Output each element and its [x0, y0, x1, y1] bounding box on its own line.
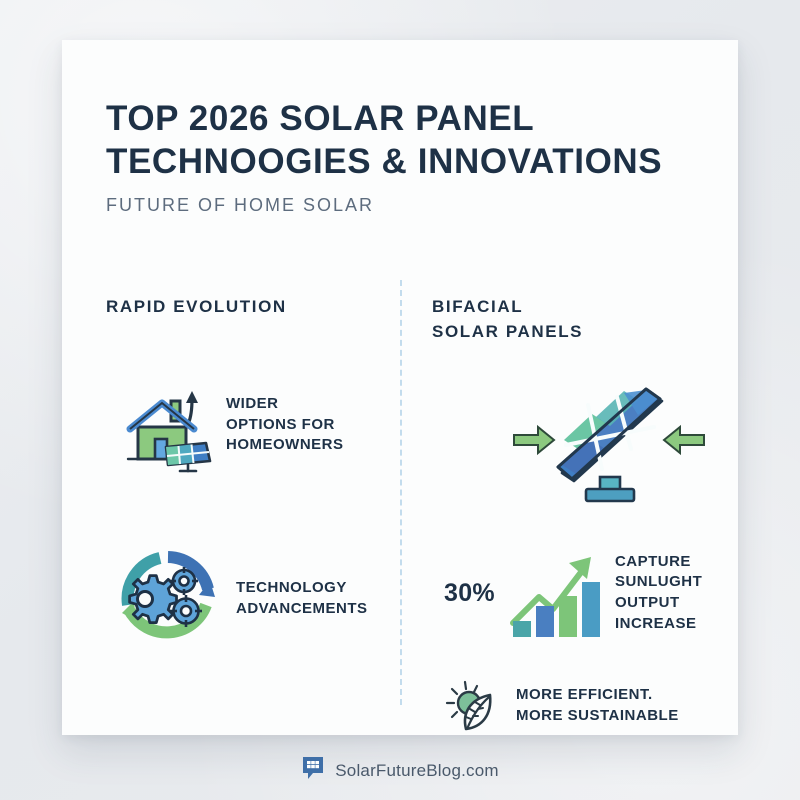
item-line: SUNLUGHT — [615, 572, 702, 593]
growth-bar-chart-icon — [509, 547, 601, 639]
column-divider — [400, 280, 402, 705]
item-line: INCREASE — [615, 614, 702, 635]
house-solar-growth-icon — [126, 377, 212, 473]
item-line: OUTPUT — [615, 593, 702, 614]
page-subtitle: FUTURE OF HOME SOLAR — [106, 195, 706, 216]
right-column-header-line-2: SOLAR PANELS — [432, 320, 722, 345]
stat-percentage: 30% — [444, 579, 495, 608]
item-line: HOMEOWNERS — [226, 435, 344, 456]
page-title-line-1: TOP 2026 SOLAR PANEL — [106, 98, 706, 141]
right-column-header: BIFACIAL SOLAR PANELS — [432, 295, 722, 344]
footer: SolarFutureBlog.com — [0, 755, 800, 786]
footer-site-name: SolarFutureBlog.com — [335, 761, 498, 781]
title-block: TOP 2026 SOLAR PANEL TECHNOOGIES & INNOV… — [106, 98, 706, 216]
item-line: ADVANCEMENTS — [236, 599, 368, 620]
item-line: OPTIONS FOR — [226, 415, 344, 436]
sun-leaf-eco-icon — [444, 677, 502, 735]
list-item-label: CAPTURE SUNLUGHT OUTPUT INCREASE — [615, 552, 702, 635]
left-column-header: RAPID EVOLUTION — [106, 295, 391, 320]
list-item-capture-sunlight: 30% CAPTURE SUNLUGHT OUTPUT INCREASE — [444, 547, 702, 639]
item-line: CAPTURE — [615, 552, 702, 573]
item-line: TECHNOLOGY — [236, 578, 368, 599]
list-item-more-efficient: MORE EFFICIENT. MORE SUSTAINABLE — [444, 677, 679, 735]
list-item-label: MORE EFFICIENT. MORE SUSTAINABLE — [516, 685, 679, 726]
item-line: MORE EFFICIENT. — [516, 685, 679, 706]
list-item-wider-options: WIDER OPTIONS FOR HOMEOWNERS — [126, 377, 344, 473]
list-item-label: TECHNOLOGY ADVANCEMENTS — [236, 578, 368, 619]
list-item-technology-advancements: TECHNOLOGY ADVANCEMENTS — [114, 545, 368, 653]
left-column: RAPID EVOLUTION — [106, 295, 391, 320]
gears-cycle-icon — [114, 545, 222, 653]
solar-panel-bubble-icon — [301, 755, 325, 786]
bifacial-solar-panel-icon — [504, 377, 714, 512]
page-title-line-2: TECHNOOGIES & INNOVATIONS — [106, 141, 706, 184]
item-line: WIDER — [226, 394, 344, 415]
infographic-card: TOP 2026 SOLAR PANEL TECHNOOGIES & INNOV… — [62, 40, 738, 735]
list-item-label: WIDER OPTIONS FOR HOMEOWNERS — [226, 394, 344, 456]
right-column-header-line-1: BIFACIAL — [432, 295, 722, 320]
item-line: MORE SUSTAINABLE — [516, 706, 679, 727]
right-column: BIFACIAL SOLAR PANELS — [432, 295, 722, 344]
